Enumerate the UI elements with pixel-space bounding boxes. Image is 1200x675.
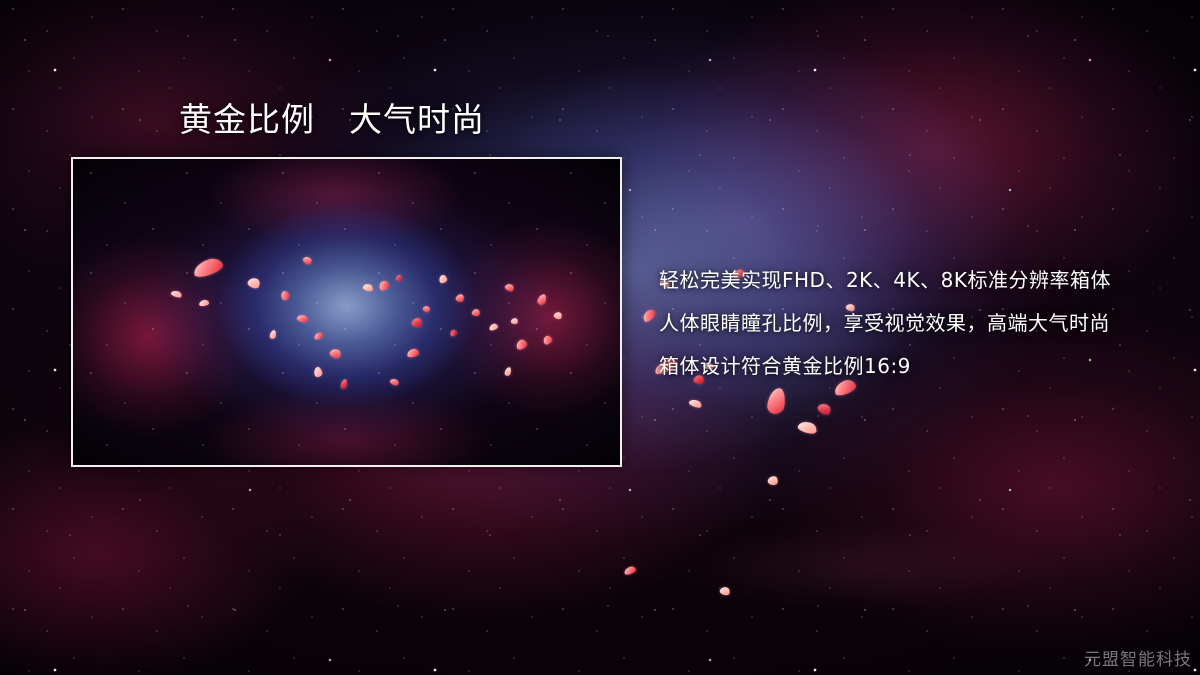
petal-shape — [246, 276, 261, 290]
petal-shape — [504, 366, 512, 376]
petal-shape — [422, 304, 431, 313]
petal-shape — [378, 280, 391, 292]
page-title: 黄金比例 大气时尚 — [179, 100, 485, 140]
petal-shape — [171, 289, 183, 298]
petal-shape — [389, 378, 400, 388]
body-line-2: 人体眼睛瞳孔比例，享受视觉效果，高端大气时尚 — [659, 302, 1179, 345]
petal-shape — [472, 308, 482, 317]
petal-shape — [455, 292, 465, 302]
petal-shape — [641, 307, 658, 323]
petal-shape — [504, 283, 515, 294]
petal-shape — [488, 323, 499, 332]
petal-shape — [313, 366, 323, 378]
petal-shape — [817, 401, 833, 417]
petal-shape — [797, 419, 818, 435]
petal-shape — [767, 475, 779, 486]
petal-shape — [536, 293, 547, 306]
petal-shape — [269, 330, 276, 340]
slide-canvas: 黄金比例 大气时尚 轻松完美实现FHD、2K、4K、8K标准分辨率箱体 人体眼睛… — [0, 0, 1200, 675]
petal-shape — [297, 314, 309, 324]
petal-shape — [192, 256, 225, 280]
petal-shape — [515, 338, 529, 351]
petal-shape — [766, 387, 786, 415]
petal-shape — [279, 289, 290, 301]
petal-shape — [302, 255, 313, 266]
body-line-1: 轻松完美实现FHD、2K、4K、8K标准分辨率箱体 — [659, 259, 1179, 302]
petal-shape — [510, 318, 518, 325]
petal-shape — [688, 397, 703, 408]
petal-shape — [542, 335, 554, 347]
watermark: 元盟智能科技 — [1084, 649, 1192, 671]
petal-shape — [623, 565, 637, 575]
petal-shape — [449, 329, 458, 338]
petal-shape — [411, 317, 423, 328]
petal-shape — [438, 274, 448, 284]
petal-shape — [198, 299, 209, 306]
body-copy: 轻松完美实现FHD、2K、4K、8K标准分辨率箱体 人体眼睛瞳孔比例，享受视觉效… — [659, 259, 1179, 388]
product-image-frame — [71, 157, 622, 467]
body-line-3: 箱体设计符合黄金比例16:9 — [659, 345, 1179, 388]
petal-shape — [362, 283, 374, 293]
petal-shape — [329, 347, 343, 360]
petal-shape — [396, 275, 402, 281]
petal-shape — [313, 332, 324, 341]
petal-shape — [553, 311, 563, 321]
petal-shape — [406, 348, 419, 358]
petal-shape — [340, 379, 348, 390]
petal-shape — [719, 586, 731, 597]
photo-petals — [73, 159, 620, 465]
